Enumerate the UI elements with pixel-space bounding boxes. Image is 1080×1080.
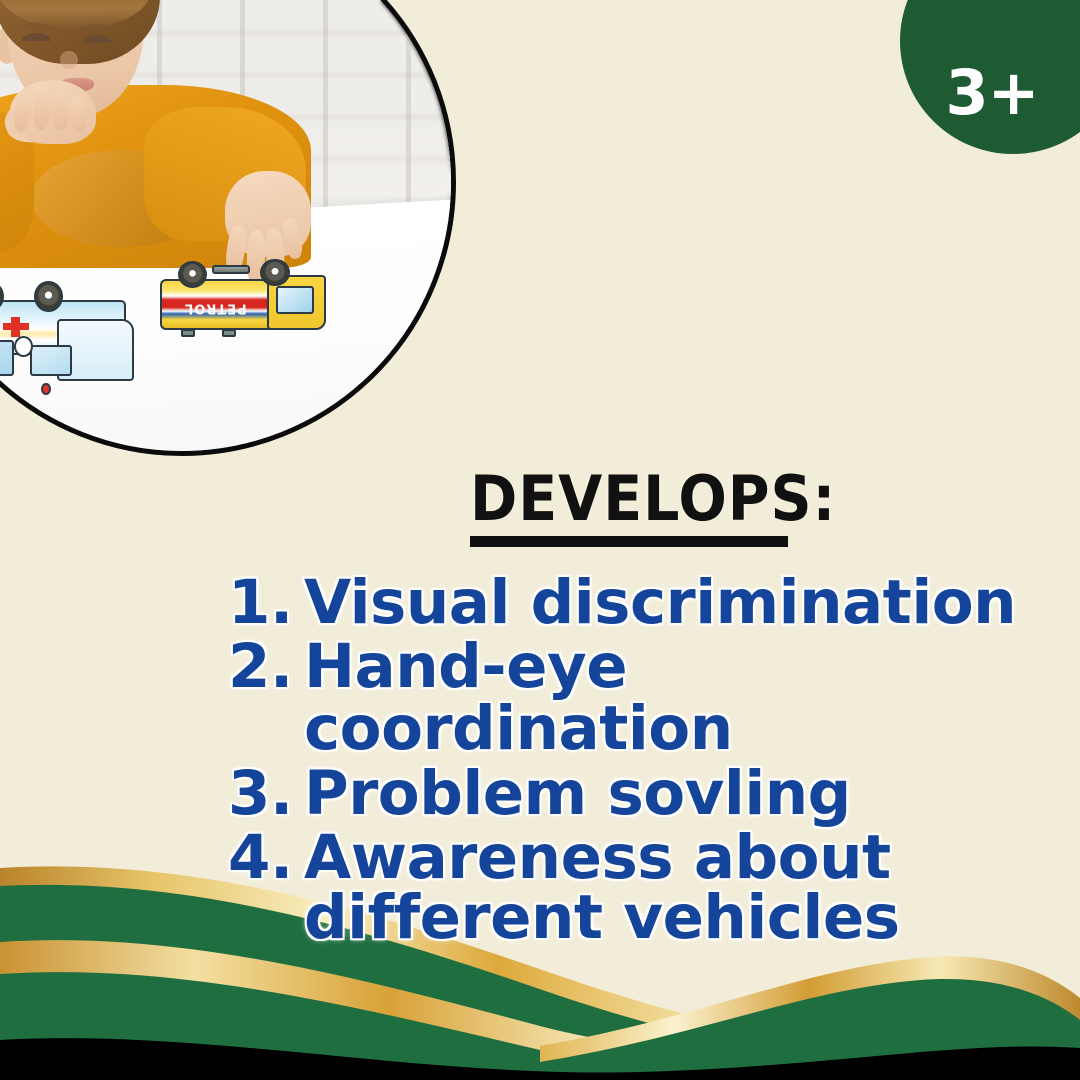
list-item-number: 1.	[228, 572, 304, 634]
list-item-label: Problem sovling	[304, 763, 851, 825]
list-item-continuation: different vehicles	[228, 887, 1064, 949]
petrol-tanker-puzzle: PETROL	[160, 263, 332, 354]
list-item: 3. Problem sovling	[228, 763, 1064, 825]
product-feature-card: PETROL 3+ DEVELOPS: 1. Visual discrimina…	[0, 0, 1080, 1080]
list-item-label: Awareness about	[304, 827, 891, 889]
nose	[60, 51, 77, 69]
ambulance-window-rear	[0, 340, 14, 376]
eyebrow-left	[21, 23, 51, 29]
petrol-support-2	[222, 329, 236, 337]
petrol-label-text: PETROL	[174, 299, 257, 315]
list-item-label-continued: different vehicles	[304, 887, 900, 949]
ambulance-wheel-front	[34, 281, 63, 312]
petrol-wheel-rear	[178, 261, 207, 288]
age-badge-label: 3+	[922, 62, 1062, 124]
list-item: 2. Hand-eye coordination	[228, 636, 1064, 760]
age-badge: 3+	[900, 0, 1080, 154]
list-item-number: 3.	[228, 763, 304, 825]
ambulance-puzzle	[0, 279, 150, 397]
list-item: 1. Visual discrimination	[228, 572, 1064, 634]
product-lifestyle-photo: PETROL	[0, 0, 456, 456]
page-title: DEVELOPS:	[470, 468, 856, 530]
list-item-label: Visual discrimination	[304, 572, 1016, 634]
heading-underline-bar	[470, 536, 788, 547]
ambulance-window-front	[30, 345, 73, 376]
develops-benefit-list: 1. Visual discrimination 2. Hand-eye coo…	[228, 572, 1064, 951]
eye-left	[22, 33, 51, 41]
petrol-windscreen	[276, 286, 314, 313]
list-item-label: Hand-eye coordination	[304, 636, 1064, 760]
petrol-support-1	[181, 329, 195, 337]
develops-heading-block: DEVELOPS:	[470, 468, 890, 547]
petrol-wheel-front	[260, 259, 289, 286]
photo-inner: PETROL	[0, 0, 451, 451]
ambulance-red-cross-vertical	[11, 317, 20, 337]
petrol-tank-pipe	[212, 265, 250, 274]
left-finger-3	[51, 89, 70, 130]
ambulance-lamp-front	[41, 383, 51, 395]
list-item-number: 4.	[228, 827, 304, 889]
list-item-number: 2.	[228, 636, 304, 698]
list-item: 4. Awareness about	[228, 827, 1064, 889]
